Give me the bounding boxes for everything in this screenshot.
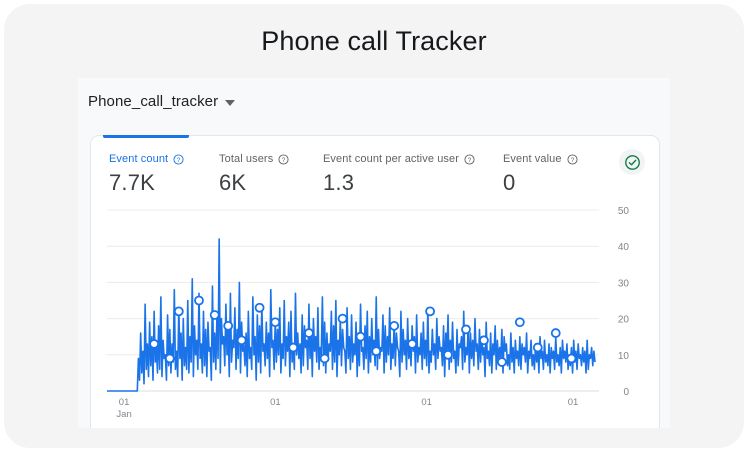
- chart-data-point[interactable]: [211, 311, 219, 319]
- chevron-down-icon: [225, 100, 235, 106]
- chart-data-point[interactable]: [339, 315, 347, 323]
- x-axis-tick-label: 01: [421, 397, 432, 408]
- y-axis-tick-label: 10: [618, 351, 630, 362]
- chart-data-point[interactable]: [498, 358, 506, 366]
- y-axis-tick-label: 0: [623, 387, 629, 398]
- chart-data-point[interactable]: [408, 340, 416, 348]
- metric-label: Event value: [503, 153, 562, 165]
- metric-header: Event count?: [109, 152, 184, 166]
- active-tab-underline: [103, 135, 189, 138]
- chart-data-point[interactable]: [175, 307, 183, 315]
- metric-value: 1.3: [323, 171, 475, 195]
- chart-data-point[interactable]: [444, 351, 452, 359]
- metric-total-users[interactable]: Total users?6K: [219, 152, 289, 195]
- chart-data-point[interactable]: [289, 344, 297, 352]
- x-axis-tick-label: 01: [119, 397, 130, 408]
- chart-data-point[interactable]: [238, 336, 246, 344]
- analytics-card: Phone_call_tracker Event count?7.7KTotal…: [78, 78, 670, 428]
- svg-text:?: ?: [282, 156, 286, 163]
- y-axis-tick-label: 20: [618, 315, 630, 326]
- metric-value: 6K: [219, 171, 289, 195]
- metric-header: Event value?: [503, 152, 578, 166]
- chart-data-point[interactable]: [534, 344, 542, 352]
- event-count-chart: 0102030405001Jan010101: [91, 198, 661, 429]
- metric-value: 0: [503, 171, 578, 195]
- y-axis-tick-label: 40: [618, 242, 630, 253]
- chart-data-point[interactable]: [305, 329, 313, 337]
- chart-data-point[interactable]: [271, 318, 279, 326]
- status-badge[interactable]: [619, 149, 645, 175]
- svg-text:?: ?: [570, 156, 574, 163]
- chart-data-point[interactable]: [372, 347, 380, 355]
- metric-header: Event count per active user?: [323, 152, 475, 166]
- metric-label: Total users: [219, 153, 273, 165]
- chart-data-point[interactable]: [150, 340, 158, 348]
- help-circle-icon[interactable]: ?: [278, 154, 289, 165]
- chart-data-point[interactable]: [480, 336, 488, 344]
- svg-text:?: ?: [468, 156, 472, 163]
- chart-data-point[interactable]: [256, 304, 264, 312]
- chart-data-point[interactable]: [462, 325, 470, 333]
- chart-data-point[interactable]: [567, 354, 575, 362]
- help-circle-icon[interactable]: ?: [567, 154, 578, 165]
- chart-data-point[interactable]: [195, 297, 203, 305]
- metric-event-count[interactable]: Event count?7.7K: [109, 152, 184, 195]
- page-title: Phone call Tracker: [0, 26, 748, 57]
- metric-header: Total users?: [219, 152, 289, 166]
- x-axis-tick-sublabel: Jan: [116, 409, 131, 420]
- chart-plot-area: 0102030405001Jan010101: [91, 198, 661, 429]
- metric-event-value[interactable]: Event value?0: [503, 152, 578, 195]
- metric-event-count-per-active-user[interactable]: Event count per active user?1.3: [323, 152, 475, 195]
- metric-label: Event count per active user: [323, 153, 459, 165]
- x-axis-tick-label: 01: [568, 397, 579, 408]
- chart-data-point[interactable]: [321, 354, 329, 362]
- data-source-selector[interactable]: Phone_call_tracker: [88, 88, 235, 114]
- metric-label: Event count: [109, 153, 168, 165]
- screenshot-root: Phone call Tracker Phone_call_tracker Ev…: [0, 0, 748, 452]
- check-circle-icon: [624, 154, 641, 171]
- y-axis-tick-label: 50: [618, 206, 630, 217]
- chart-data-point[interactable]: [552, 329, 560, 337]
- chart-data-point[interactable]: [166, 354, 174, 362]
- metrics-row: Event count?7.7KTotal users?6KEvent coun…: [91, 136, 659, 198]
- chart-data-point[interactable]: [426, 307, 434, 315]
- help-circle-icon[interactable]: ?: [464, 154, 475, 165]
- data-source-name: Phone_call_tracker: [88, 93, 218, 110]
- svg-text:?: ?: [177, 156, 181, 163]
- chart-card: Event count?7.7KTotal users?6KEvent coun…: [90, 135, 660, 428]
- help-circle-icon[interactable]: ?: [173, 154, 184, 165]
- y-axis-tick-label: 30: [618, 278, 630, 289]
- x-axis-tick-label: 01: [270, 397, 281, 408]
- chart-data-point[interactable]: [390, 322, 398, 330]
- chart-data-point[interactable]: [224, 322, 232, 330]
- chart-data-point[interactable]: [516, 318, 524, 326]
- metric-value: 7.7K: [109, 171, 184, 195]
- chart-data-point[interactable]: [357, 333, 365, 341]
